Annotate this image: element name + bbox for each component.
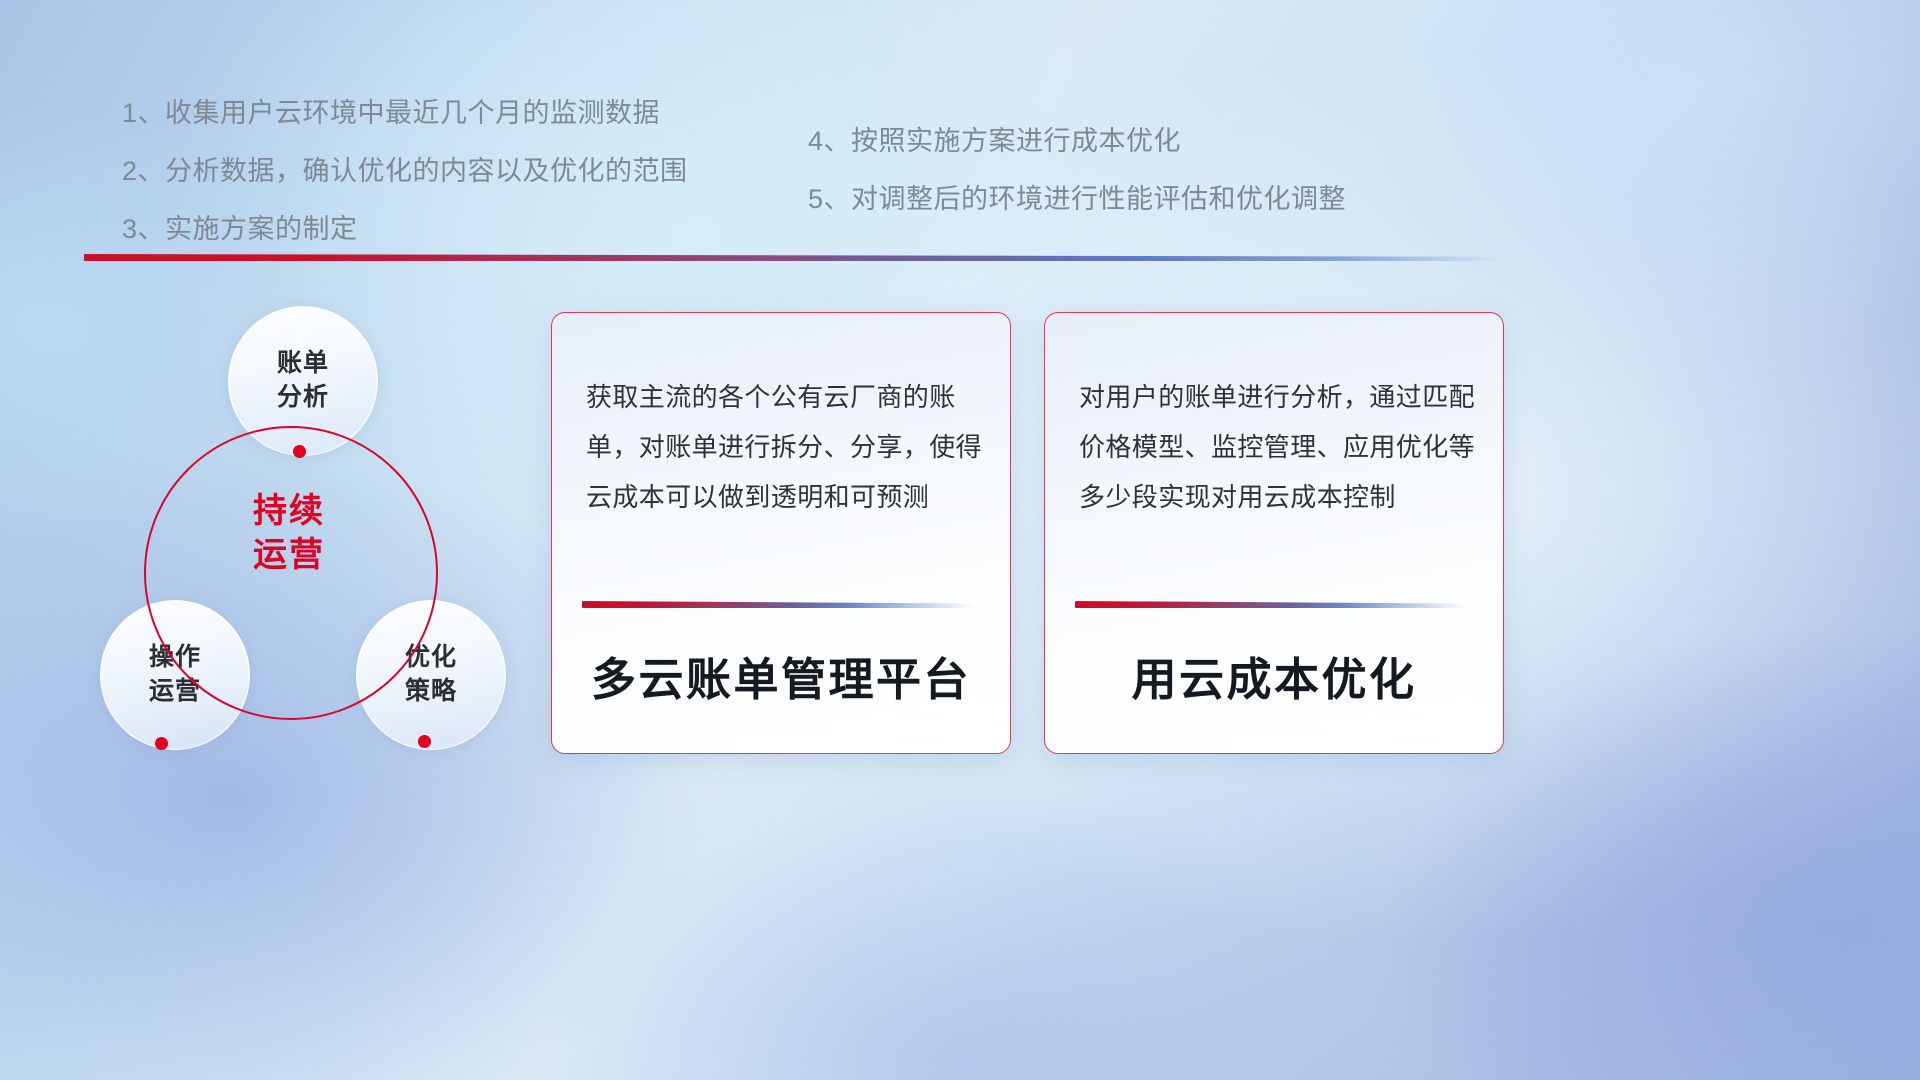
card-multicloud-billing-platform[interactable]: 获取主流的各个公有云厂商的账单，对账单进行拆分、分享，使得云成本可以做到透明和可…: [551, 312, 1011, 754]
step-item-4: 4、按照实施方案进行成本优化: [808, 128, 1346, 155]
card-body-text: 对用户的账单进行分析，通过匹配价格模型、监控管理、应用优化等多少段实现对用云成本…: [1079, 373, 1475, 523]
card-cloud-cost-optimization[interactable]: 对用户的账单进行分析，通过匹配价格模型、监控管理、应用优化等多少段实现对用云成本…: [1044, 312, 1504, 754]
slide-canvas: 1、收集用户云环境中最近几个月的监测数据 2、分析数据，确认优化的内容以及优化的…: [0, 0, 1920, 1080]
step-list-left: 1、收集用户云环境中最近几个月的监测数据 2、分析数据，确认优化的内容以及优化的…: [122, 100, 688, 274]
step-item-3: 3、实施方案的制定: [122, 216, 688, 243]
card-divider: [1075, 601, 1467, 608]
step-item-5: 5、对调整后的环境进行性能评估和优化调整: [808, 186, 1346, 213]
diagram-connector-dot-bottom-left: [155, 737, 168, 750]
continuous-operation-diagram: 账单分析 操作运营 优化策略 持续运营: [78, 290, 528, 780]
card-title: 用云成本优化: [1045, 643, 1503, 708]
diagram-connector-dot-top: [293, 445, 306, 458]
diagram-center-label: 持续运营: [253, 490, 413, 577]
step-item-1: 1、收集用户云环境中最近几个月的监测数据: [122, 100, 688, 127]
step-item-2: 2、分析数据，确认优化的内容以及优化的范围: [122, 158, 688, 185]
card-divider: [582, 601, 974, 608]
card-body-text: 获取主流的各个公有云厂商的账单，对账单进行拆分、分享，使得云成本可以做到透明和可…: [586, 373, 982, 523]
card-title: 多云账单管理平台: [552, 643, 1010, 708]
diagram-connector-dot-bottom-right: [418, 735, 431, 748]
diagram-node-label: 账单分析: [277, 347, 329, 415]
step-list-right: 4、按照实施方案进行成本优化 5、对调整后的环境进行性能评估和优化调整: [808, 128, 1346, 244]
